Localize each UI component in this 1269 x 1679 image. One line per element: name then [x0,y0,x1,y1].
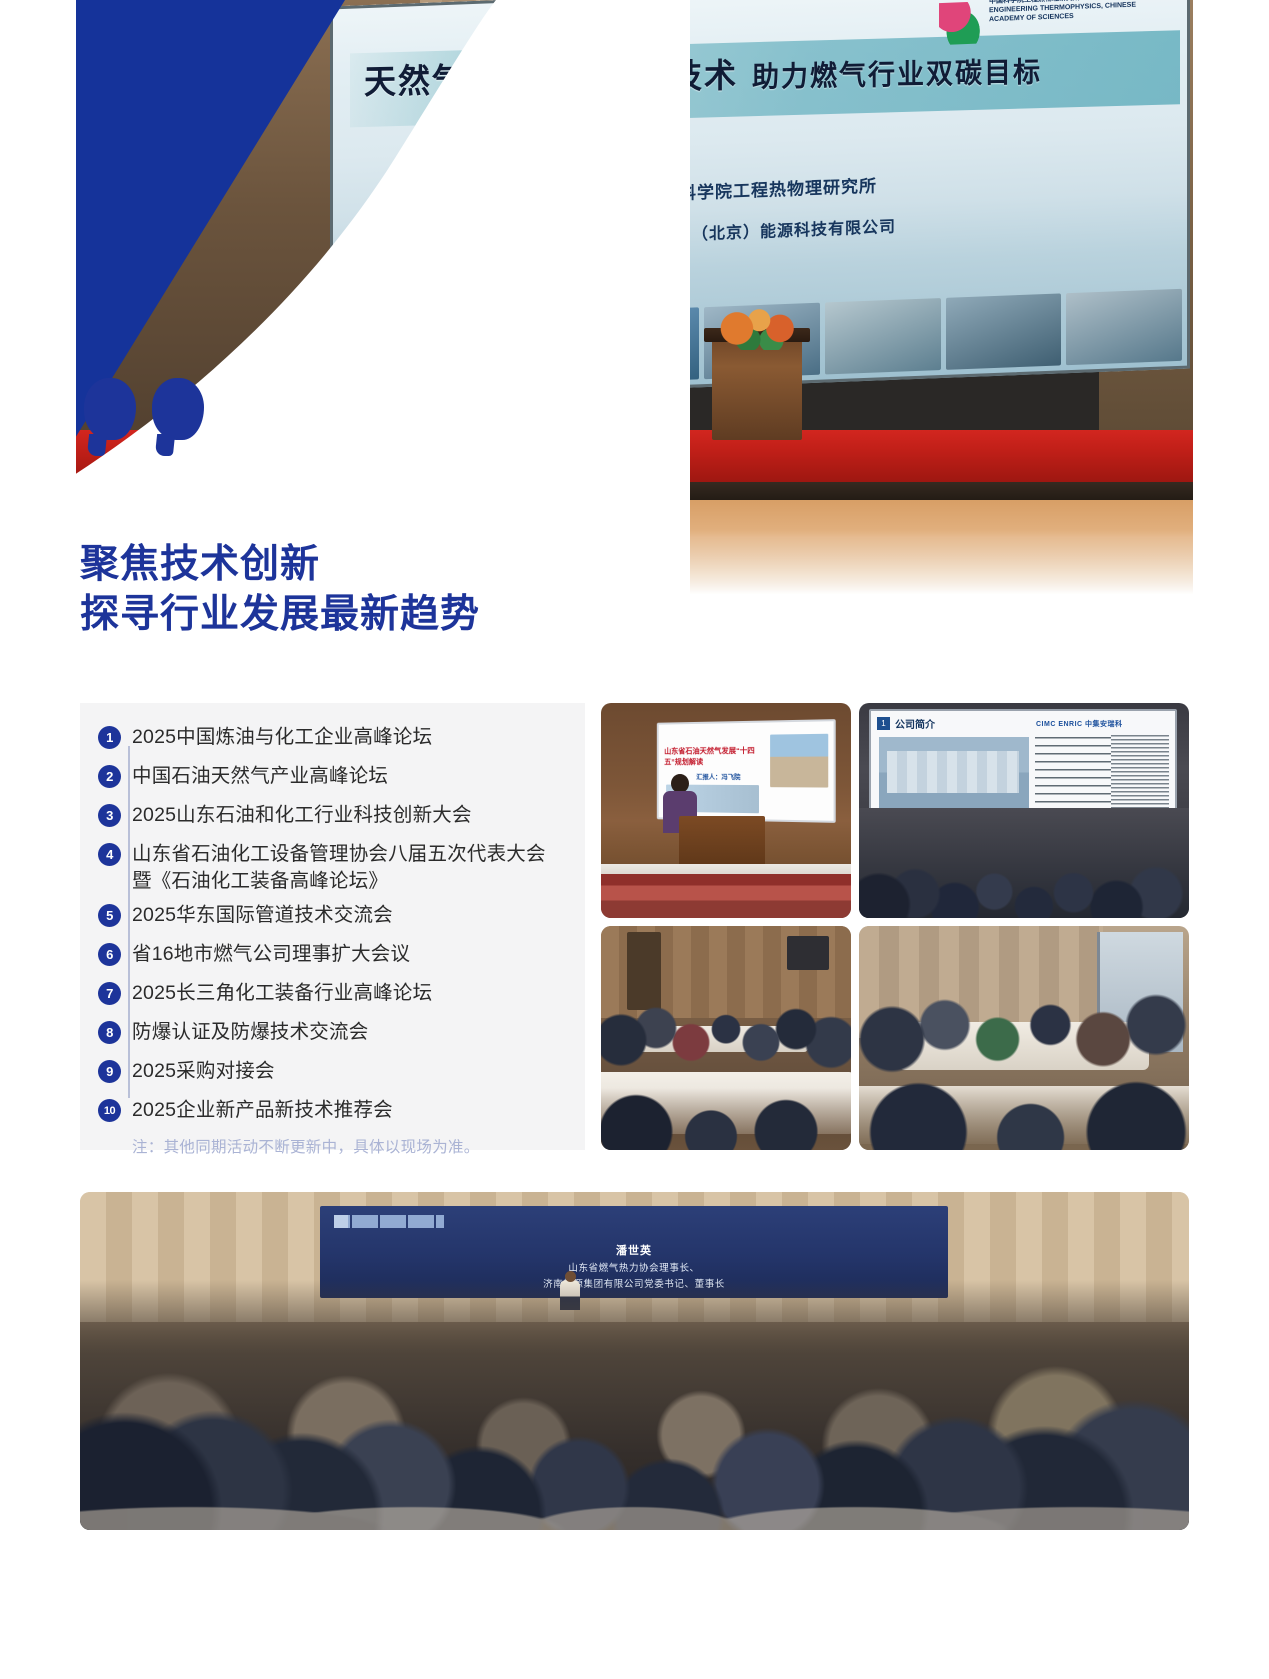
list-item-number: 4 [98,843,121,866]
list-item-label: 2025企业新产品新技术推荐会 [132,1093,393,1124]
list-item-number: 5 [98,904,121,927]
photo-main-conference-hall: 潘世英 山东省燃气热力协会理事长、 济南能源集团有限公司党委书记、董事长 [80,1192,1189,1530]
photo-a-slide-image [770,734,828,788]
list-item: 9 2025采购对接会 [98,1054,578,1090]
photo-c-monitor [787,936,829,970]
event-list-note: 注：其他同期活动不断更新中，具体以现场为准。 [132,1135,578,1157]
photo-b-slide-image [879,737,1029,811]
list-item-number: 6 [98,943,121,966]
list-item-line-1: 防爆认证及防爆技术交流会 [132,1021,368,1043]
list-item-line-1: 2025企业新产品新技术推荐会 [132,1099,393,1121]
photo-grid: 山东省石油天然气发展“十四五”规划解读 汇报人：冯飞院 1 公司简介 CIMC … [601,703,1189,1150]
institute-logo-mark-icon [939,1,983,45]
photo-b-slide-bullets [1035,737,1111,813]
list-item-line-2: 暨《石油化工装备高峰论坛》 [132,868,546,895]
list-item-label: 防爆认证及防爆技术交流会 [132,1015,368,1046]
content-section: 1 2025中国炼油与化工企业高峰论坛 2 中国石油天然气产业高峰论坛 3 20… [0,703,1269,1150]
poster-page: 天然气压差发电制冷技术助力燃气行业双碳目标 中国科学院工程热物理研究所 中科九朗… [0,0,1269,1679]
list-item: 3 2025山东石油和化工行业科技创新大会 [98,798,578,834]
list-item-label: 2025长三角化工装备行业高峰论坛 [132,976,432,1007]
list-item-line-1: 2025华东国际管道技术交流会 [132,904,393,926]
list-item-line-1: 2025山东石油和化工行业科技创新大会 [132,804,472,826]
screen-banner-tail: 助力燃气行业双碳目标 [752,56,1042,94]
list-item-number: 2 [98,765,121,788]
page-margin-left [0,0,76,600]
list-item-label: 山东省石油化工设备管理协会八届五次代表大会 暨《石油化工装备高峰论坛》 [132,837,546,895]
list-item: 4 山东省石油化工设备管理协会八届五次代表大会 暨《石油化工装备高峰论坛》 [98,837,578,895]
hero-section: 天然气压差发电制冷技术助力燃气行业双碳目标 中国科学院工程热物理研究所 中科九朗… [0,0,1269,600]
list-item: 8 防爆认证及防爆技术交流会 [98,1015,578,1051]
bottom-photo-speaker-role-1: 山东省燃气热力协会理事长、 [320,1260,948,1274]
photo-company-intro-presentation: 1 公司简介 CIMC ENRIC 中集安瑞科 [859,703,1189,918]
page-title: 聚焦技术创新 探寻行业发展最新趋势 [80,540,480,640]
list-item: 7 2025长三角化工装备行业高峰论坛 [98,976,578,1012]
photo-b-slide-text-column [1111,735,1169,813]
photo-roundtable-meeting-1 [601,926,851,1150]
list-item-label: 省16地市燃气公司理事扩大会议 [132,937,410,968]
list-item: 5 2025华东国际管道技术交流会 [98,898,578,934]
white-curve-overlay [0,0,760,600]
photo-b-slide-brand: CIMC ENRIC 中集安瑞科 [1036,719,1123,729]
page-title-line-2: 探寻行业发展最新趋势 [80,590,480,640]
list-item-number: 8 [98,1021,121,1044]
list-item-line-1: 2025长三角化工装备行业高峰论坛 [132,982,432,1004]
page-title-line-1: 聚焦技术创新 [80,540,480,590]
list-item-number: 10 [98,1099,121,1122]
association-logo-icon [334,1215,444,1228]
bottom-photo-speaker-name: 潘世英 [320,1242,948,1258]
photo-a-slide-title: 山东省石油天然气发展“十四五”规划解读 [664,745,771,767]
photo-b-slide-title: 公司简介 [895,716,935,731]
photo-b-slide-index: 1 [877,717,890,730]
list-item: 10 2025企业新产品新技术推荐会 [98,1093,578,1129]
list-item-line-1: 中国石油天然气产业高峰论坛 [132,765,388,787]
list-item-label: 2025华东国际管道技术交流会 [132,898,393,929]
quotation-mark-decoration [84,378,204,440]
list-item-label: 中国石油天然气产业高峰论坛 [132,759,388,790]
list-item-label: 2025中国炼油与化工企业高峰论坛 [132,720,432,751]
photo-roundtable-meeting-2 [859,926,1189,1150]
list-item-label: 2025采购对接会 [132,1054,275,1085]
photo-b-audience [859,808,1189,918]
list-item: 6 省16地市燃气公司理事扩大会议 [98,937,578,973]
list-item-line-1: 省16地市燃气公司理事扩大会议 [132,943,410,965]
list-item-number: 1 [98,726,121,749]
event-list: 1 2025中国炼油与化工企业高峰论坛 2 中国石油天然气产业高峰论坛 3 20… [98,720,578,1157]
photo-b-slide-header: 1 公司简介 CIMC ENRIC 中集安瑞科 [877,716,1181,731]
page-margin-right [1193,0,1269,600]
photo-c-foreground-attendees [601,1088,851,1150]
list-item-line-1: 山东省石油化工设备管理协会八届五次代表大会 [132,843,546,865]
event-list-panel: 1 2025中国炼油与化工企业高峰论坛 2 中国石油天然气产业高峰论坛 3 20… [80,703,585,1150]
list-item-number: 9 [98,1060,121,1083]
list-item: 1 2025中国炼油与化工企业高峰论坛 [98,720,578,756]
photo-b-slide: 1 公司简介 CIMC ENRIC 中集安瑞科 [869,709,1177,817]
photo-a-slide-presenter: 汇报人：冯飞院 [696,771,740,781]
list-item-label: 2025山东石油和化工行业科技创新大会 [132,798,472,829]
photo-d-foreground-attendees [859,1080,1189,1150]
photo-a-red-carpet [601,874,851,918]
quote-glyph-right-icon [152,378,204,440]
photo-shandong-gas-plan: 山东省石油天然气发展“十四五”规划解读 汇报人：冯飞院 [601,703,851,918]
list-item-number: 3 [98,804,121,827]
list-item-line-1: 2025中国炼油与化工企业高峰论坛 [132,726,432,748]
bottom-photo-chairs [80,1410,1189,1530]
quote-glyph-left-icon [84,378,136,440]
institute-logo-text: 中国科学院工程热物理研究所 INSTITUTE OF ENGINEERING T… [989,0,1149,24]
list-item-line-1: 2025采购对接会 [132,1060,275,1082]
list-item: 2 中国石油天然气产业高峰论坛 [98,759,578,795]
institute-logo: 中国科学院工程热物理研究所 INSTITUTE OF ENGINEERING T… [939,0,1154,53]
list-item-number: 7 [98,982,121,1005]
